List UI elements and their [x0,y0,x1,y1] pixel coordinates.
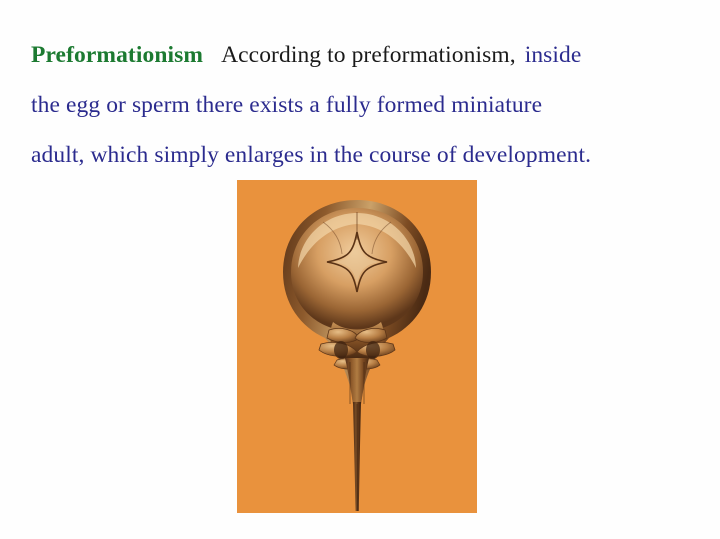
limb-void-right [366,341,380,359]
slide-canvas: PreformationismAccording to preformation… [0,0,720,539]
body-line-2-text: the egg or sperm there exists a fully fo… [31,92,542,118]
term-preformationism: Preformationism [31,42,203,68]
body-line-3-text: adult, which simply enlarges in the cour… [31,142,591,168]
homunculus-in-sperm-illustration [237,180,477,513]
body-line-1-plain-text: According to preformationism, [221,42,516,68]
body-line-3: adult, which simply enlarges in the cour… [31,130,695,180]
body-line-1-accent-text: inside [525,42,582,68]
body-line-2: the egg or sperm there exists a fully fo… [31,80,695,130]
sperm-outline [283,200,431,511]
slide-body-text: PreformationismAccording to preformation… [31,30,695,180]
limb-void-left [334,341,348,359]
homunculus-figure-plate [237,180,477,513]
body-line-1: PreformationismAccording to preformation… [31,30,695,80]
